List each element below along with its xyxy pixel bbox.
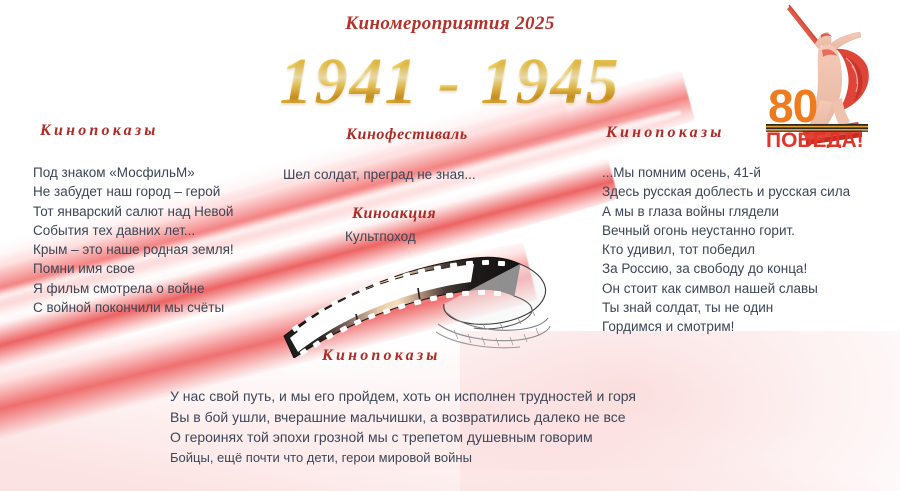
right-poem-line: Вечный огонь неустанно горит. [602, 221, 850, 240]
poster-canvas: Киномероприятия 2025 1941 - 1945 Кинопок… [0, 0, 900, 491]
left-poem-line: С войной покончили мы счёты [33, 298, 234, 317]
right-poem-line: ...Мы помним осень, 41-й [602, 163, 850, 182]
left-poem-line: Помни имя свое [33, 259, 234, 278]
right-poem-line: Здесь русская доблесть и русская сила [602, 182, 850, 201]
left-poem-line: Я фильм смотрела о войне [33, 279, 234, 298]
victory-80-emblem: 80 ПОБЕДА! [762, 4, 890, 148]
bottom-verse-line: О героинях той эпохи грозной мы с трепет… [170, 427, 636, 448]
right-poem-line: За Россию, за свободу до конца! [602, 259, 850, 278]
right-poem-line: А мы в глаза войны глядели [602, 202, 850, 221]
left-column-heading: Кинопоказы [40, 122, 159, 140]
filmstrip-graphic [278, 238, 578, 358]
right-column-poem: ...Мы помним осень, 41-й Здесь русская д… [602, 163, 850, 337]
left-poem-line: Под знаком «МосфильМ» [33, 163, 234, 182]
right-poem-line: Ты знай солдат, ты не один [602, 298, 850, 317]
right-poem-line: Гордимся и смотрим! [602, 317, 850, 336]
center-festival-line: Шел солдат, преград не зная... [283, 167, 476, 182]
bottom-verse: У нас свой путь, и мы его пройдем, хоть … [170, 386, 636, 468]
emblem-victory-word: ПОБЕДА! [766, 129, 864, 148]
left-poem-line: Тот январский салют над Невой [33, 202, 234, 221]
bottom-verse-line: Бойцы, ещё почти что дети, герои мировой… [170, 448, 636, 469]
bottom-verse-line: Вы в бой ушли, вчерашние мальчишки, а во… [170, 407, 636, 428]
center-festival-heading: Кинофестиваль [346, 126, 468, 144]
right-poem-line: Он стоит как символ нашей славы [602, 279, 850, 298]
filmstrip-svg [278, 238, 578, 358]
bottom-verse-line: У нас свой путь, и мы его пройдем, хоть … [170, 386, 636, 407]
left-poem-line: События тех давних лет... [33, 221, 234, 240]
emblem-svg: 80 ПОБЕДА! [762, 4, 890, 148]
filmstrip-caption: Кинопоказы [322, 347, 441, 365]
right-poem-line: Кто удивил, тот победил [602, 240, 850, 259]
left-poem-line: Не забудет наш город – герой [33, 182, 234, 201]
right-column-heading: Кинопоказы [606, 124, 725, 142]
left-poem-line: Крым – это наше родная земля! [33, 240, 234, 259]
left-column-poem: Под знаком «МосфильМ» Не забудет наш гор… [33, 163, 234, 317]
center-action-heading: Киноакция [352, 205, 436, 223]
